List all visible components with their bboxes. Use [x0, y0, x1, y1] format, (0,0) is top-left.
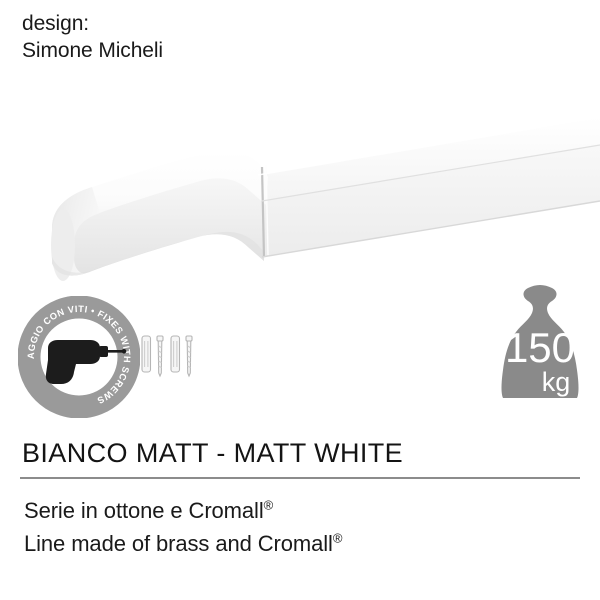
- load-capacity-icon: 150 kg: [492, 284, 588, 402]
- title-divider: [20, 477, 580, 479]
- material-line-italian: Serie in ottone e Cromall®: [24, 495, 342, 528]
- designer-name: Simone Micheli: [22, 37, 163, 64]
- load-capacity-value: 150: [505, 324, 575, 371]
- wall-plug-2: [171, 336, 180, 372]
- product-image-towel-bar: [0, 105, 600, 295]
- material-italian-text: Serie in ottone e Cromall: [24, 498, 264, 523]
- material-description: Serie in ottone e Cromall® Line made of …: [24, 495, 342, 560]
- load-capacity-unit: kg: [542, 367, 571, 397]
- registered-mark-italian: ®: [264, 498, 274, 513]
- wall-plug-1: [142, 336, 151, 372]
- designer-credit: design: Simone Micheli: [22, 10, 163, 65]
- product-catalog-page: design: Simone Micheli: [0, 0, 600, 600]
- finish-title: BIANCO MATT - MATT WHITE: [22, 438, 403, 469]
- registered-mark-english: ®: [333, 530, 343, 545]
- material-line-english: Line made of brass and Cromall®: [24, 528, 342, 561]
- material-english-text: Line made of brass and Cromall: [24, 531, 333, 556]
- screw-2: [186, 336, 192, 376]
- fixing-badge: FISSAGGIO CON VITI • FIXES WITH SCREWS: [18, 296, 140, 418]
- screw-1: [157, 336, 163, 376]
- fasteners-icon: [140, 328, 202, 390]
- designer-label: design:: [22, 10, 163, 37]
